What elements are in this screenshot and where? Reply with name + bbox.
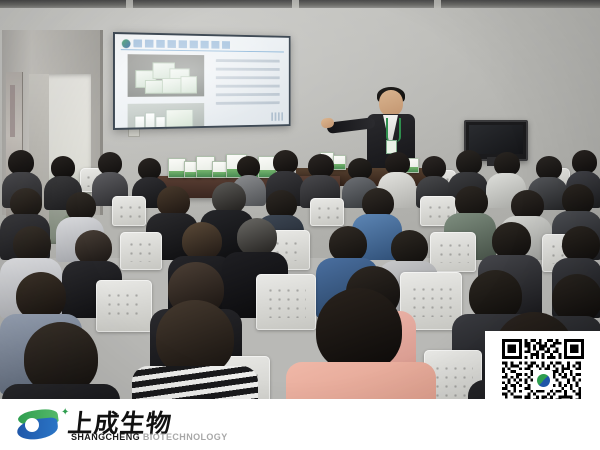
projected-slide bbox=[115, 34, 289, 128]
screenshot-root: 微信扫一扫 关注食品安全 ✦ 上成生物 SHANGCHENG BIOTECHNO… bbox=[0, 0, 600, 450]
company-logo: ✦ 上成生物 SHANGCHENG BIOTECHNOLOGY bbox=[16, 404, 206, 444]
slide-title-text bbox=[133, 39, 232, 48]
presenter-lanyard bbox=[386, 118, 401, 142]
swoosh-inner-cut bbox=[25, 418, 39, 432]
swoosh-logo-icon bbox=[16, 407, 62, 441]
slide-footer-mark bbox=[271, 112, 284, 121]
chair bbox=[112, 196, 146, 226]
qr-embedded-logo-icon bbox=[533, 370, 553, 390]
chair bbox=[310, 198, 344, 226]
slide-logo-icon bbox=[122, 39, 131, 48]
slide-product-photo-1 bbox=[128, 54, 205, 97]
logo-english-primary: SHANGCHENG bbox=[71, 432, 143, 442]
slide-body-text bbox=[216, 59, 280, 105]
slide-product-photo-2 bbox=[128, 103, 205, 128]
slide-title-bar bbox=[121, 38, 284, 52]
logo-english-secondary: BIOTECHNOLOGY bbox=[143, 432, 228, 442]
door-stripe bbox=[10, 85, 15, 137]
presenter-head bbox=[379, 90, 403, 116]
logo-english-name: SHANGCHENG BIOTECHNOLOGY bbox=[71, 432, 228, 442]
projection-screen bbox=[113, 32, 290, 130]
